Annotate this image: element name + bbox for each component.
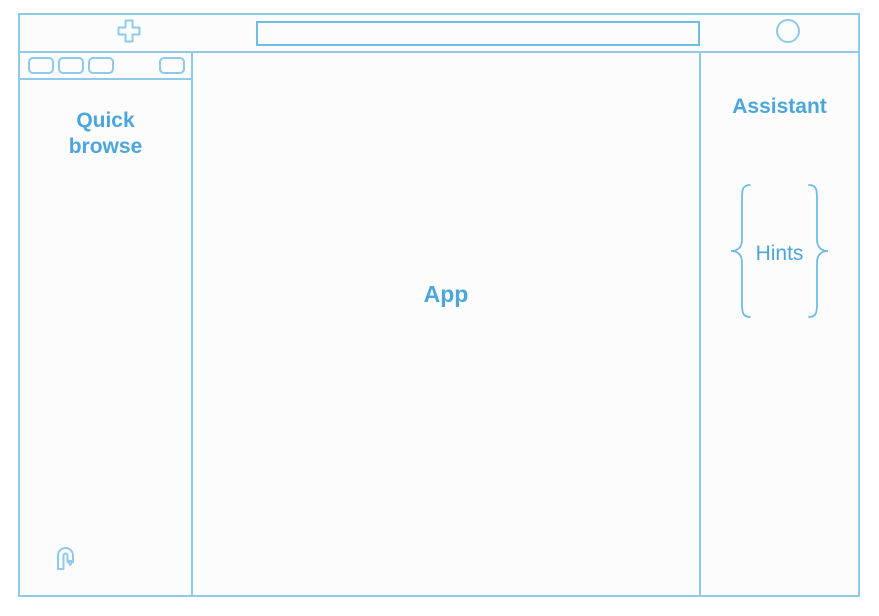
quick-browse-title-line-2: browse	[20, 134, 191, 160]
quick-browse-panel: Quick browse	[20, 53, 193, 595]
left-brace-icon	[728, 181, 754, 326]
body-row: Quick browse App Assistant	[20, 53, 858, 595]
assistant-panel: Assistant Hints	[701, 53, 858, 595]
assistant-title: Assistant	[732, 95, 827, 119]
wireframe-window: Quick browse App Assistant	[18, 13, 860, 597]
plus-icon[interactable]	[115, 17, 143, 50]
account-area	[718, 15, 858, 51]
address-bar-area	[238, 15, 718, 51]
hints-block: Hints	[728, 181, 832, 326]
quick-browse-title-line-1: Quick	[20, 108, 191, 134]
u-turn-arrow-icon[interactable]	[52, 542, 191, 577]
circle-avatar-icon[interactable]	[775, 18, 801, 49]
quick-browse-title: Quick browse	[20, 108, 191, 161]
browser-chrome-bar	[20, 15, 858, 53]
sidebar-footer	[20, 542, 191, 595]
new-tab-area	[20, 15, 238, 51]
right-brace-icon	[805, 181, 831, 326]
hints-label: Hints	[756, 242, 804, 266]
app-label: App	[424, 281, 469, 308]
app-content-area: App	[193, 53, 701, 595]
address-input[interactable]	[256, 21, 700, 46]
